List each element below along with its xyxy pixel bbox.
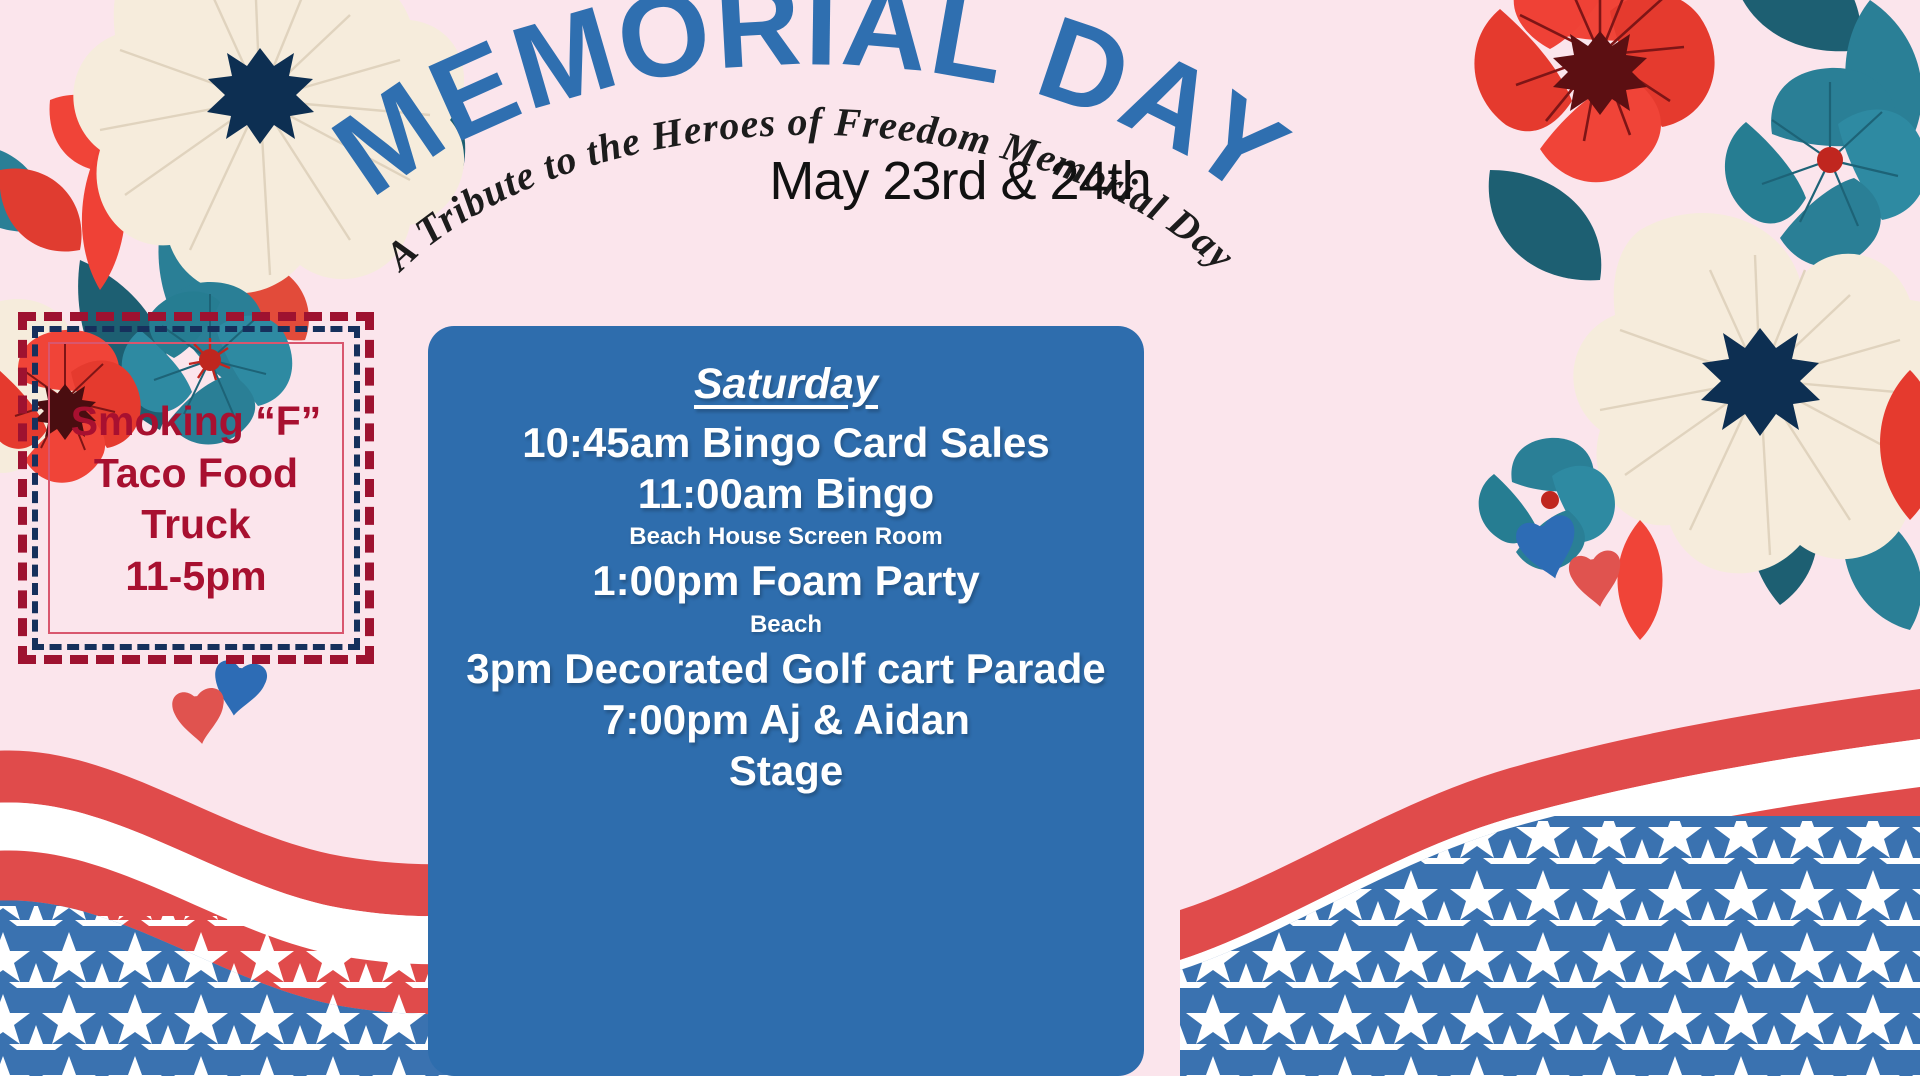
flag-wave-bottom-right <box>1180 616 1920 1076</box>
schedule-day-label: Saturday <box>428 360 1144 409</box>
schedule-location: Beach <box>428 607 1144 643</box>
hearts-decoration-left <box>170 660 300 770</box>
floral-artwork-top-right <box>1310 0 1920 640</box>
headline-arc: MEMORIAL DAY A Tribute to the Heroes of … <box>300 0 1320 286</box>
schedule-card: Saturday 10:45am Bingo Card Sales 11:00a… <box>428 326 1144 1076</box>
schedule-entry: 7:00pm Aj & Aidan <box>428 694 1144 745</box>
schedule-entry: 11:00am Bingo <box>428 468 1144 519</box>
event-date: May 23rd & 24th <box>560 150 1360 212</box>
food-truck-box: Smoking “F” Taco Food Truck 11-5pm <box>18 312 374 664</box>
food-truck-line: Taco Food <box>18 448 374 500</box>
food-truck-line: Smoking “F” <box>18 396 374 448</box>
food-truck-line: 11-5pm <box>18 551 374 603</box>
poster-canvas: MEMORIAL DAY A Tribute to the Heroes of … <box>0 0 1920 1076</box>
schedule-entry: Stage <box>428 745 1144 796</box>
schedule-entry: 3pm Decorated Golf cart Parade <box>428 643 1144 694</box>
schedule-entry: 1:00pm Foam Party <box>428 555 1144 606</box>
food-truck-text: Smoking “F” Taco Food Truck 11-5pm <box>18 396 374 603</box>
food-truck-line: Truck <box>18 499 374 551</box>
schedule-entry: 10:45am Bingo Card Sales <box>428 417 1144 468</box>
hearts-decoration-right <box>1515 505 1655 625</box>
schedule-location: Beach House Screen Room <box>428 519 1144 555</box>
